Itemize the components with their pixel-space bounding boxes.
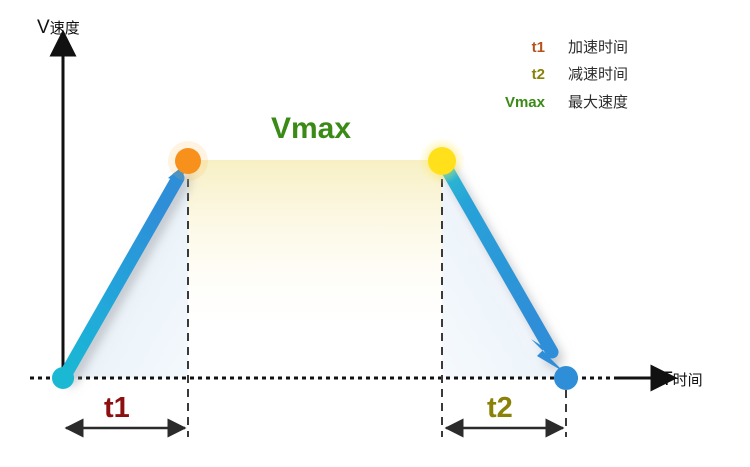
profile-area-fill — [63, 160, 566, 378]
legend-desc-vmax: 最大速度 — [568, 94, 628, 111]
legend-desc-t1: 加速时间 — [568, 39, 628, 56]
dimension-t2: t2 — [446, 392, 563, 428]
y-axis-label-symbol: V — [37, 17, 50, 38]
legend-item-t1: t1 加速时间 — [532, 39, 628, 56]
dimension-t1-label: t1 — [104, 392, 130, 424]
legend-key-t1: t1 — [532, 39, 545, 56]
y-axis-label-text: 速度 — [50, 20, 80, 37]
legend-key-vmax: Vmax — [505, 94, 546, 111]
y-axis-label: V速度 — [37, 17, 80, 38]
legend-key-t2: t2 — [532, 66, 545, 83]
node-start — [52, 367, 74, 389]
x-axis-label-text: 时间 — [673, 372, 703, 389]
legend-item-vmax: Vmax 最大速度 — [505, 94, 628, 111]
vmax-annotation: Vmax — [271, 112, 351, 145]
legend-desc-t2: 减速时间 — [568, 66, 628, 83]
node-end — [554, 366, 578, 390]
x-axis-label-symbol: T — [661, 369, 673, 390]
node-peak — [175, 148, 201, 174]
legend-item-t2: t2 减速时间 — [532, 66, 628, 83]
trapezoidal-velocity-diagram: Vmax V速度 T时间 t1 t2 t1 加速时间 t2 减速时间 — [0, 0, 750, 467]
dimension-t2-label: t2 — [487, 392, 513, 424]
node-fall — [428, 147, 456, 175]
legend: t1 加速时间 t2 减速时间 Vmax 最大速度 — [505, 39, 628, 111]
x-axis-label: T时间 — [661, 369, 703, 390]
velocity-profile-figure: Vmax V速度 T时间 t1 t2 t1 加速时间 t2 减速时间 — [0, 0, 750, 467]
dimension-t1: t1 — [66, 392, 185, 428]
